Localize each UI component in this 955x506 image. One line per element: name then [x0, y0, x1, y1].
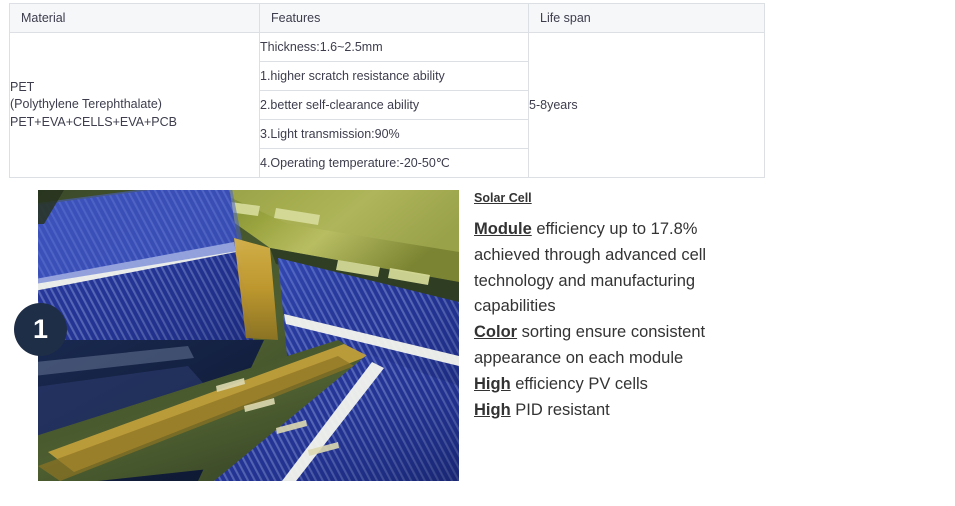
description-line-8-rest: PID resistant: [511, 401, 610, 419]
cell-life-span: 5-8years: [529, 33, 765, 178]
description-body: Module efficiency up to 17.8% achieved t…: [474, 217, 774, 423]
column-header-features: Features: [260, 4, 529, 33]
cell-feature-4: 3.Light transmission:90%: [260, 120, 529, 149]
keyword-module: Module: [474, 220, 532, 238]
material-line-3: PET+EVA+CELLS+EVA+PCB: [10, 114, 259, 132]
cell-feature-5: 4.Operating temperature:-20-50℃: [260, 149, 529, 178]
solar-pv-cells-photo: [38, 190, 459, 481]
index-badge: 1: [14, 303, 67, 356]
photo-illustration: [38, 190, 459, 481]
keyword-high-efficiency: High: [474, 375, 511, 393]
description-line-8: High PID resistant: [474, 398, 774, 424]
table-header-row: Material Features Life span: [10, 4, 765, 33]
table-row: PET (Polythylene Terephthalate) PET+EVA+…: [10, 33, 765, 62]
keyword-high-pid: High: [474, 401, 511, 419]
column-header-material: Material: [10, 4, 260, 33]
cell-feature-3: 2.better self-clearance ability: [260, 91, 529, 120]
specification-table: Material Features Life span PET (Polythy…: [9, 3, 765, 178]
description-title: Solar Cell: [474, 190, 774, 206]
description-line-2: achieved through advanced cell: [474, 243, 774, 269]
keyword-color: Color: [474, 323, 517, 341]
description-line-7: High efficiency PV cells: [474, 372, 774, 398]
cell-feature-1: Thickness:1.6~2.5mm: [260, 33, 529, 62]
material-line-1: PET: [10, 79, 259, 97]
material-line-2: (Polythylene Terephthalate): [10, 96, 259, 114]
description-line-1: Module efficiency up to 17.8%: [474, 217, 774, 243]
description-line-6: appearance on each module: [474, 346, 774, 372]
cell-material: PET (Polythylene Terephthalate) PET+EVA+…: [10, 33, 260, 178]
table-body: PET (Polythylene Terephthalate) PET+EVA+…: [10, 33, 765, 178]
table-head: Material Features Life span: [10, 4, 765, 33]
description-block: Solar Cell Module efficiency up to 17.8%…: [474, 190, 774, 423]
photo-block: 1: [38, 190, 459, 481]
description-line-1-rest: efficiency up to 17.8%: [532, 220, 698, 238]
description-line-3: technology and manufacturing: [474, 269, 774, 295]
cell-feature-2: 1.higher scratch resistance ability: [260, 62, 529, 91]
description-line-4: capabilities: [474, 294, 774, 320]
column-header-life-span: Life span: [529, 4, 765, 33]
description-line-5-rest: sorting ensure consistent: [517, 323, 705, 341]
description-line-7-rest: efficiency PV cells: [511, 375, 648, 393]
description-line-5: Color sorting ensure consistent: [474, 320, 774, 346]
